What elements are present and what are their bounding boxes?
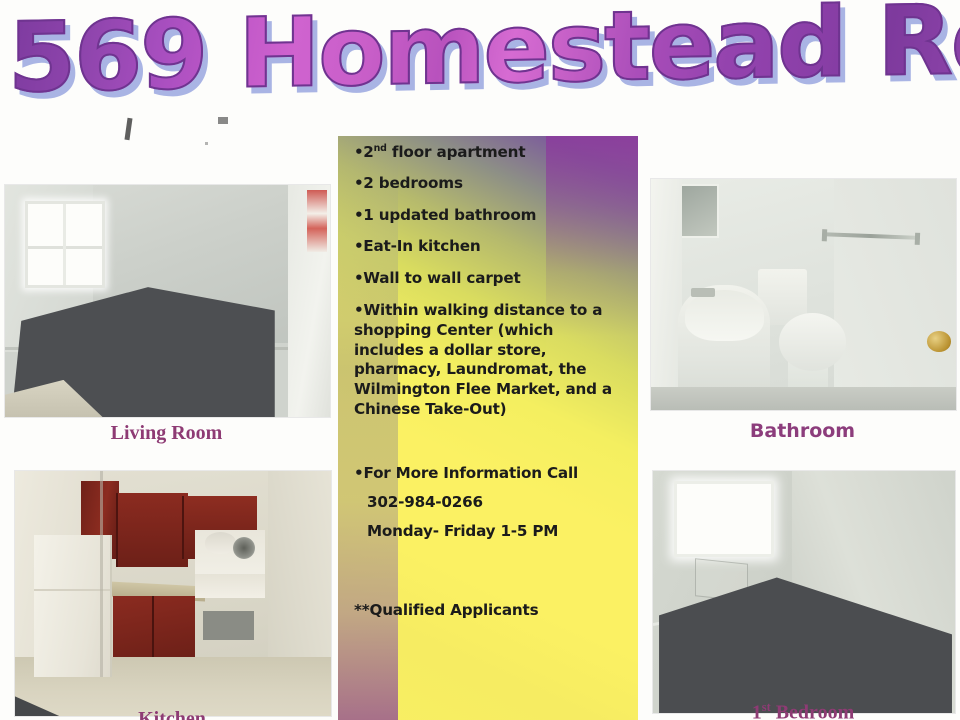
door-panel <box>651 179 682 410</box>
qualified-applicants-note: **Qualified Applicants <box>354 601 624 619</box>
wall-right <box>834 179 956 410</box>
photo-kitchen <box>14 470 332 717</box>
phone-number[interactable]: 302-984-0266 <box>354 493 624 511</box>
stove-cooktop <box>195 574 265 599</box>
ordinal-suffix: nd <box>374 143 387 154</box>
info-panel: •2nd floor apartment •2 bedrooms •1 upda… <box>338 136 638 720</box>
door-sticker <box>307 190 327 253</box>
spacer <box>354 551 624 601</box>
toilet-bowl <box>779 313 846 371</box>
caption-living-room: Living Room <box>4 422 329 445</box>
feature-item-0: •2nd floor apartment <box>354 144 624 162</box>
bullet-icon: • <box>354 237 363 255</box>
oven-window <box>203 611 254 640</box>
caption-kitchen: Kitchen <box>14 708 330 720</box>
bullet-icon: • <box>354 174 363 192</box>
feature-text: 2 bedrooms <box>363 174 463 192</box>
feature-item-1: •2 bedrooms <box>354 175 624 193</box>
window-icon <box>25 201 106 288</box>
window-icon <box>674 481 774 557</box>
feature-text: 1 updated bathroom <box>363 206 536 224</box>
page-title: 569 Homestead Rd. Apt.B. <box>8 0 960 122</box>
faucet <box>691 288 715 297</box>
bullet-icon: • <box>354 143 363 161</box>
photo-bathroom <box>650 178 957 411</box>
caption-bedroom-number: 1 <box>752 702 762 720</box>
flyer-page: 569 Homestead Rd. Apt.B. 569 Homestead R… <box>0 0 960 720</box>
bedroom-scene <box>653 471 955 713</box>
caption-bedroom-tail: Bedroom <box>771 702 855 720</box>
neighborhood-description: •Within walking distance to a shopping C… <box>354 301 624 420</box>
kitchen-scene <box>15 471 331 716</box>
living-room-scene <box>5 185 330 417</box>
bullet-icon: • <box>354 269 363 287</box>
sink-basin <box>685 290 764 341</box>
photo-living-room <box>4 184 331 418</box>
caption-first-bedroom: 1st Bedroom <box>652 700 954 720</box>
caption-bedroom-ordinal: st <box>762 700 771 714</box>
feature-item-3: •Eat-In kitchen <box>354 238 624 256</box>
office-hours: Monday- Friday 1-5 PM <box>354 522 624 540</box>
feature-text: Eat-In kitchen <box>363 237 480 255</box>
flyer-title-banner: 569 Homestead Rd. Apt.B. 569 Homestead R… <box>0 0 960 136</box>
upper-cabinet-middle <box>116 493 188 567</box>
info-panel-content: •2nd floor apartment •2 bedrooms •1 upda… <box>338 136 638 619</box>
feature-text: Wall to wall carpet <box>363 269 520 287</box>
bullet-icon: • <box>354 206 363 224</box>
photo-first-bedroom <box>652 470 956 714</box>
contact-heading: •For More Information Call <box>354 464 624 482</box>
range-hood <box>205 532 237 554</box>
scan-speck <box>205 142 208 145</box>
bathroom-floor <box>651 387 956 410</box>
feature-text: 2 <box>363 143 373 161</box>
feature-text-tail: floor apartment <box>387 143 526 161</box>
lower-cabinet <box>113 596 195 665</box>
feature-item-2: •1 updated bathroom <box>354 207 624 225</box>
caption-bathroom: Bathroom <box>650 420 955 442</box>
spacer <box>354 420 624 464</box>
doorway-edge <box>100 471 103 677</box>
bathroom-scene <box>651 179 956 410</box>
feature-item-4: •Wall to wall carpet <box>354 270 624 288</box>
